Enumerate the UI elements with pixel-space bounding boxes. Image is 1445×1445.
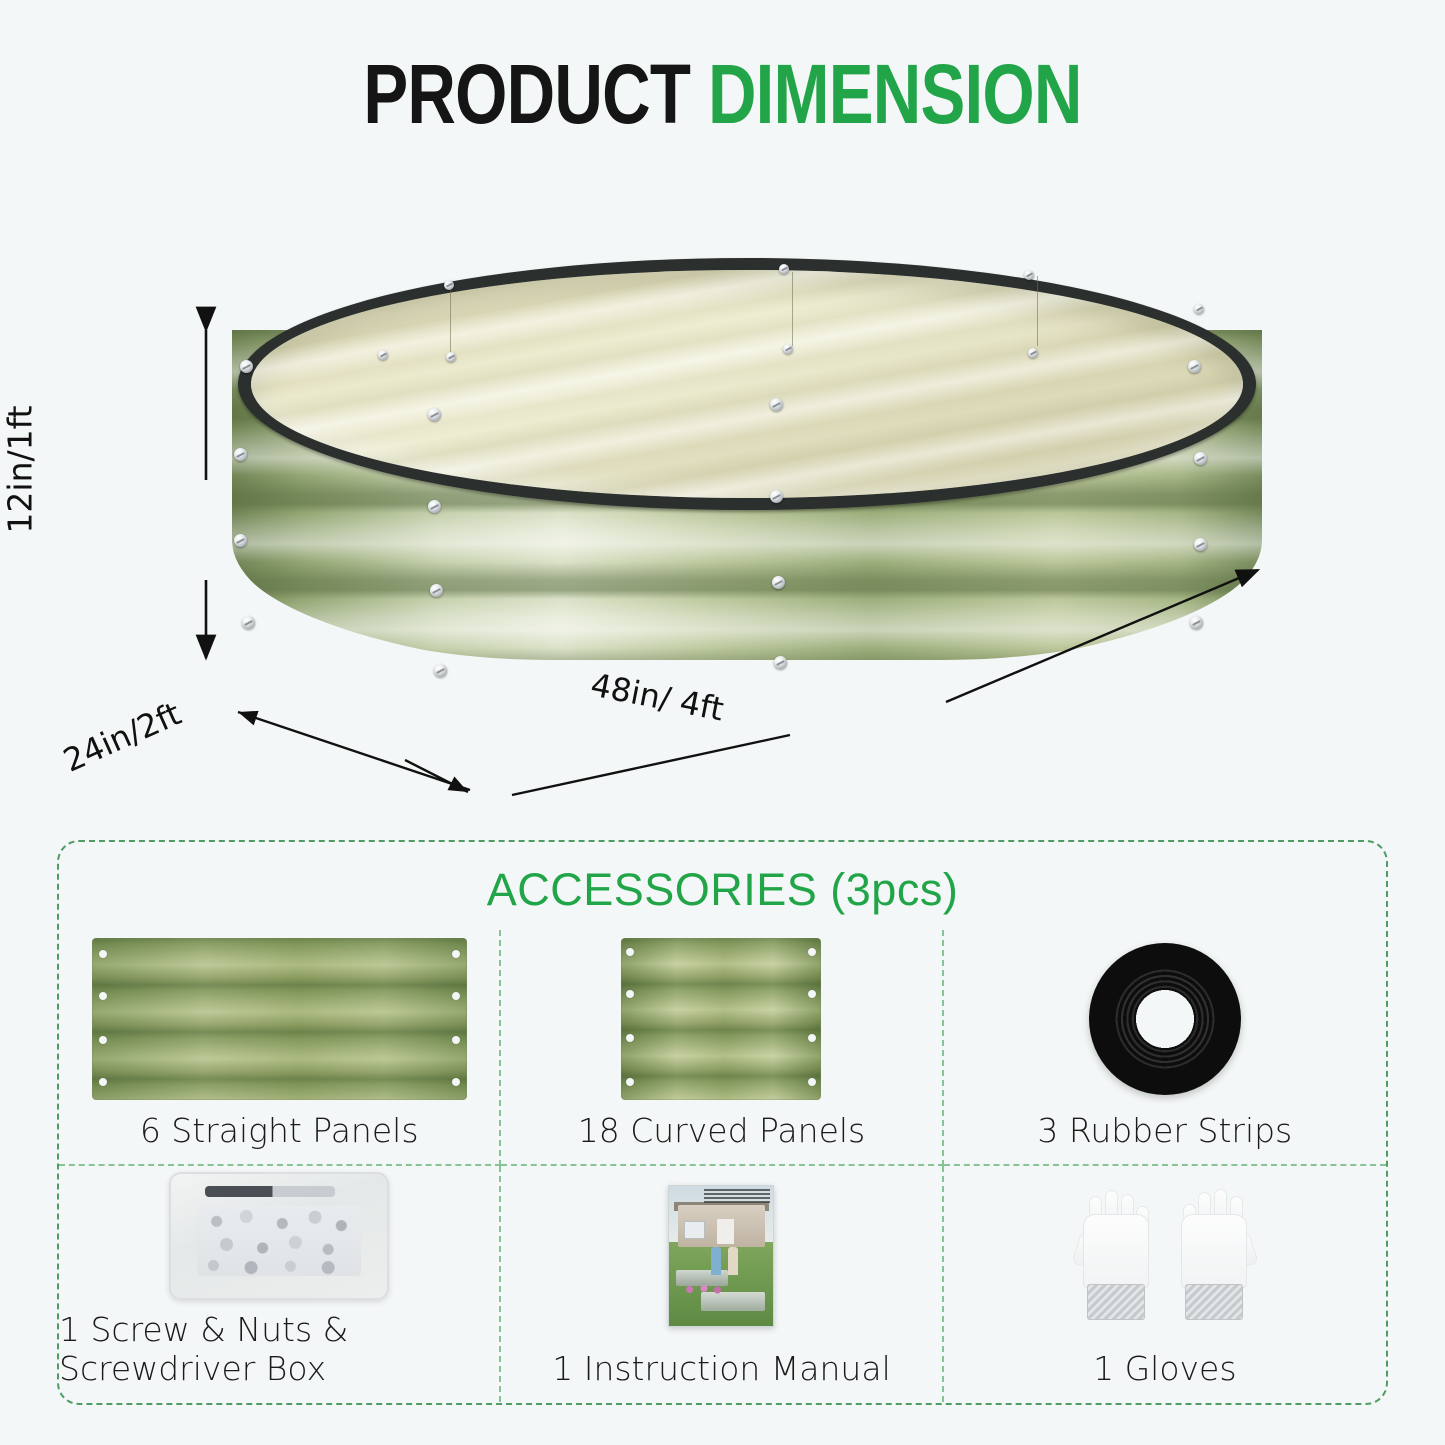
screw	[774, 656, 787, 669]
page-title-part2: DIMENSION	[708, 47, 1082, 141]
accessory-label: 18 Curved Panels	[578, 1111, 866, 1150]
length-line-left	[512, 735, 790, 795]
straight-panel-icon	[92, 938, 467, 1100]
accessory-item-curved-panels: 18 Curved Panels	[501, 930, 943, 1166]
accessory-item-rubber-strips: 3 Rubber Strips	[944, 930, 1386, 1166]
bed-interior	[251, 270, 1243, 498]
screw-box-art	[59, 1166, 499, 1306]
gloves-art	[944, 1166, 1386, 1345]
screw	[779, 264, 789, 274]
screw	[772, 576, 785, 589]
screw	[430, 584, 443, 597]
screw	[240, 360, 253, 373]
screw	[1194, 452, 1207, 465]
screw	[1024, 270, 1034, 280]
accessory-label: 1 Instruction Manual	[552, 1349, 891, 1388]
raised-garden-bed-image	[232, 212, 1262, 712]
screw	[428, 500, 441, 513]
accessories-grid: 6 Straight Panels 18 Curved Panels	[59, 930, 1386, 1402]
accessory-item-straight-panels: 6 Straight Panels	[59, 930, 501, 1166]
interior-seam	[792, 272, 793, 346]
screw	[428, 408, 441, 421]
width-arrow-upleft	[238, 712, 470, 790]
dimension-label-width: 24in/2ft	[58, 694, 187, 779]
product-hero: 12in/1ft 48in/ 4ft 24in/2ft	[0, 150, 1445, 830]
gloves-icon	[1075, 1186, 1255, 1326]
page-title-part1: PRODUCT	[363, 47, 708, 141]
accessories-heading: ACCESSORIES (3pcs)	[59, 864, 1386, 916]
rubber-coil-icon	[1089, 943, 1241, 1095]
accessory-item-screw-box: 1 Screw & Nuts & Screwdriver Box	[59, 1166, 501, 1402]
screw-box-icon	[169, 1172, 389, 1300]
page-title: PRODUCT DIMENSION	[145, 46, 1301, 143]
straight-panel-art	[59, 930, 499, 1107]
interior-seam	[450, 284, 451, 354]
instruction-manual-icon	[668, 1185, 774, 1327]
bed-interior-ribs	[251, 270, 1243, 498]
bed-rubber-rim	[238, 258, 1256, 510]
screw	[1190, 616, 1203, 629]
accessory-label: 6 Straight Panels	[140, 1111, 419, 1150]
screw	[234, 534, 247, 547]
screw	[242, 616, 255, 629]
accessory-label: 3 Rubber Strips	[1037, 1111, 1292, 1150]
curved-panel-icon	[621, 938, 821, 1100]
rubber-coil-art	[944, 930, 1386, 1107]
screw	[444, 280, 454, 290]
accessory-item-gloves: 1 Gloves	[944, 1166, 1386, 1402]
screw	[446, 352, 456, 362]
screw	[234, 448, 247, 461]
screw	[1194, 304, 1204, 314]
screw	[1188, 360, 1201, 373]
screw	[1194, 538, 1207, 551]
interior-seam	[1037, 276, 1038, 346]
accessory-label: 1 Gloves	[1093, 1349, 1236, 1388]
manual-art	[501, 1166, 941, 1345]
screw	[770, 490, 783, 503]
screwdriver-icon	[205, 1186, 335, 1197]
manual-cover-title	[704, 1189, 771, 1203]
curved-panel-art	[501, 930, 941, 1107]
width-arrow-vertex	[405, 760, 468, 792]
accessory-label: 1 Screw & Nuts & Screwdriver Box	[59, 1310, 499, 1388]
accessory-item-manual: 1 Instruction Manual	[501, 1166, 943, 1402]
screw	[783, 344, 793, 354]
dimension-label-height: 12in/1ft	[1, 405, 40, 533]
screw	[770, 398, 783, 411]
screws-nuts	[197, 1206, 361, 1276]
screw	[378, 350, 388, 360]
screw	[1028, 348, 1038, 358]
accessories-panel: ACCESSORIES (3pcs) 6 Straight Panels	[57, 840, 1388, 1405]
screw	[434, 664, 447, 677]
